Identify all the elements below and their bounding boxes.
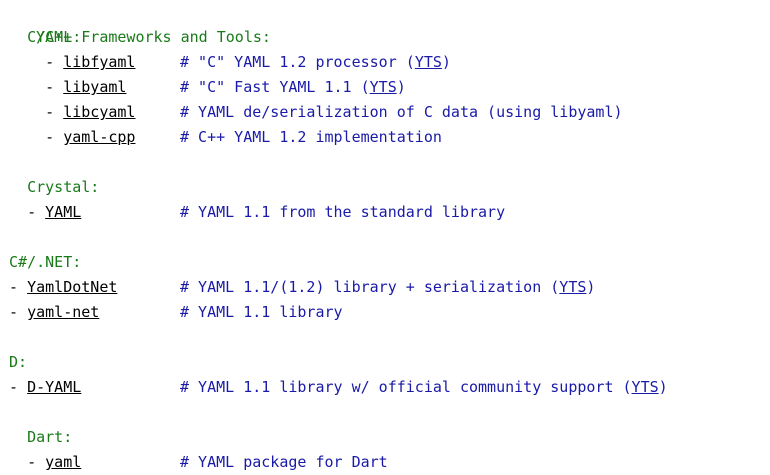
list-item: - D-YAML# YAML 1.1 library w/ official c…	[0, 375, 770, 400]
blank-line	[0, 150, 770, 175]
indent	[0, 253, 9, 271]
section-key-label: C/C++:	[27, 28, 81, 46]
page-title: YAML Frameworks and Tools:	[0, 0, 770, 25]
indent	[0, 128, 45, 146]
section-key-label: D:	[9, 353, 27, 371]
list-item: - YAML# YAML 1.1 from the standard libra…	[0, 200, 770, 225]
blank-line	[0, 325, 770, 350]
item-comment: # YAML package for Dart	[180, 450, 388, 475]
blank-line	[0, 400, 770, 425]
list-bullet: -	[27, 203, 45, 221]
indent	[0, 53, 45, 71]
item-comment: # YAML 1.1 library	[180, 300, 343, 325]
item-comment: # "C" Fast YAML 1.1 (YTS)	[180, 75, 406, 100]
indent	[0, 428, 27, 446]
comment-text: # YAML 1.1 library	[180, 303, 343, 321]
comment-text: # YAML 1.1/(1.2) library + serialization…	[180, 278, 559, 296]
project-link-yaml[interactable]: YAML	[45, 203, 81, 221]
section-header-d: D:	[0, 350, 770, 375]
item-comment: # "C" YAML 1.2 processor (YTS)	[180, 50, 451, 75]
project-link-yaml-net[interactable]: yaml-net	[27, 303, 99, 321]
blank-line	[0, 225, 770, 250]
list-bullet: -	[45, 53, 63, 71]
project-link-libyaml[interactable]: libyaml	[63, 78, 126, 96]
list-item: - libcyaml# YAML de/serialization of C d…	[0, 100, 770, 125]
indent	[0, 353, 9, 371]
project-link-yamldotnet[interactable]: YamlDotNet	[27, 278, 117, 296]
comment-text: # "C" Fast YAML 1.1 (	[180, 78, 370, 96]
project-link-yaml-cpp[interactable]: yaml-cpp	[63, 128, 135, 146]
comment-text: # "C" YAML 1.2 processor (	[180, 53, 415, 71]
section-header-crystal: Crystal:	[0, 175, 770, 200]
indent	[0, 28, 27, 46]
comment-text: # YAML de/serialization of C data (using…	[180, 103, 623, 121]
list-item: - YamlDotNet# YAML 1.1/(1.2) library + s…	[0, 275, 770, 300]
comment-text: )	[659, 378, 668, 396]
item-comment: # YAML de/serialization of C data (using…	[180, 100, 623, 125]
comment-text: # YAML package for Dart	[180, 453, 388, 471]
indent	[0, 303, 9, 321]
indent	[0, 453, 27, 471]
item-comment: # C++ YAML 1.2 implementation	[180, 125, 442, 150]
section-header-c-c: C/C++:	[0, 25, 770, 50]
list-bullet: -	[9, 303, 27, 321]
indent	[0, 103, 45, 121]
yts-link[interactable]: YTS	[370, 78, 397, 96]
list-bullet: -	[9, 378, 27, 396]
list-bullet: -	[45, 103, 63, 121]
project-link-libcyaml[interactable]: libcyaml	[63, 103, 135, 121]
item-comment: # YAML 1.1/(1.2) library + serialization…	[180, 275, 595, 300]
comment-text: # YAML 1.1 library w/ official community…	[180, 378, 632, 396]
indent	[0, 278, 9, 296]
section-header-dart: Dart:	[0, 425, 770, 450]
item-comment: # YAML 1.1 from the standard library	[180, 200, 505, 225]
comment-text: # C++ YAML 1.2 implementation	[180, 128, 442, 146]
section-key-label: Dart:	[27, 428, 72, 446]
list-bullet: -	[27, 453, 45, 471]
section-header-c-net: C#/.NET:	[0, 250, 770, 275]
indent	[0, 378, 9, 396]
project-link-libfyaml[interactable]: libfyaml	[63, 53, 135, 71]
comment-text: )	[442, 53, 451, 71]
comment-text: # YAML 1.1 from the standard library	[180, 203, 505, 221]
indent	[0, 78, 45, 96]
project-link-d-yaml[interactable]: D-YAML	[27, 378, 81, 396]
list-item: - libyaml# "C" Fast YAML 1.1 (YTS)	[0, 75, 770, 100]
list-bullet: -	[45, 128, 63, 146]
item-comment: # YAML 1.1 library w/ official community…	[180, 375, 668, 400]
indent	[0, 203, 27, 221]
comment-text: )	[586, 278, 595, 296]
list-item: - libfyaml# "C" YAML 1.2 processor (YTS)	[0, 50, 770, 75]
yaml-frameworks-document: YAML Frameworks and Tools: C/C++: - libf…	[0, 0, 770, 470]
list-item: - yaml# YAML package for Dart	[0, 450, 770, 475]
yts-link[interactable]: YTS	[559, 278, 586, 296]
list-bullet: -	[45, 78, 63, 96]
indent	[0, 178, 27, 196]
list-item: - yaml-net# YAML 1.1 library	[0, 300, 770, 325]
sections-container: C/C++: - libfyaml# "C" YAML 1.2 processo…	[0, 25, 770, 475]
list-bullet: -	[9, 278, 27, 296]
project-link-yaml[interactable]: yaml	[45, 453, 81, 471]
section-key-label: Crystal:	[27, 178, 99, 196]
yts-link[interactable]: YTS	[415, 53, 442, 71]
list-item: - yaml-cpp# C++ YAML 1.2 implementation	[0, 125, 770, 150]
comment-text: )	[397, 78, 406, 96]
yts-link[interactable]: YTS	[632, 378, 659, 396]
section-key-label: C#/.NET:	[9, 253, 81, 271]
